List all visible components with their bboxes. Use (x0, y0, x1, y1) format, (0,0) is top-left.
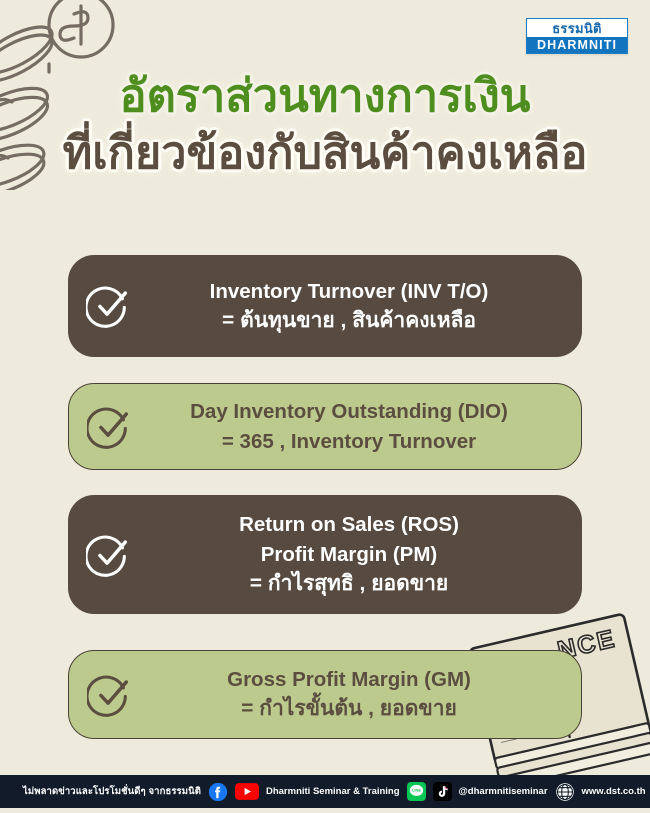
ratio-card-day-inventory-outstanding: Day Inventory Outstanding (DIO) = 365 , … (68, 383, 582, 470)
poster-canvas: NCE ธรรมนิติ DHARMNITI อัตราส่วนทางการเง… (0, 0, 650, 813)
ratio-card-inventory-turnover: Inventory Turnover (INV T/O) = ต้นทุนขาย… (68, 255, 582, 357)
ratio-card-gross-profit-margin: Gross Profit Margin (GM) = กำไรขั้นต้น ,… (68, 650, 582, 739)
card-text-block: Gross Profit Margin (GM) = กำไรขั้นต้น ,… (139, 665, 559, 724)
card-line: Day Inventory Outstanding (DIO) (139, 397, 559, 426)
card-line: Return on Sales (ROS) (138, 510, 560, 539)
facebook-icon[interactable] (208, 782, 228, 802)
footer-tagline: ไม่พลาดข่าวและโปรโมชั่นดีๆ จากธรรมนิติ (23, 784, 201, 799)
check-circle-icon (86, 532, 132, 578)
svg-text:LINE: LINE (412, 788, 421, 793)
footer-website: www.dst.co.th (582, 786, 646, 797)
card-line: Gross Profit Margin (GM) (139, 665, 559, 694)
card-text-block: Day Inventory Outstanding (DIO) = 365 , … (139, 397, 559, 455)
title-line-1: อัตราส่วนทางการเงิน (0, 72, 650, 121)
footer-bar: ไม่พลาดข่าวและโปรโมชั่นดีๆ จากธรรมนิติ D… (0, 775, 650, 808)
card-line: = ต้นทุนขาย , สินค้าคงเหลือ (138, 306, 560, 336)
card-text-block: Return on Sales (ROS) Profit Margin (PM)… (138, 510, 560, 598)
line-icon[interactable]: LINE (407, 782, 426, 801)
page-title: อัตราส่วนทางการเงิน ที่เกี่ยวข้องกับสินค… (0, 72, 650, 177)
card-line: Inventory Turnover (INV T/O) (138, 277, 560, 306)
footer-social-name: Dharmniti Seminar & Training (266, 786, 400, 797)
ratio-card-return-on-sales: Return on Sales (ROS) Profit Margin (PM)… (68, 495, 582, 614)
card-text-block: Inventory Turnover (INV T/O) = ต้นทุนขาย… (138, 277, 560, 336)
youtube-icon[interactable] (235, 783, 259, 800)
footer-handle: @dharmnitiseminar (459, 786, 548, 797)
card-line: = 365 , Inventory Turnover (139, 427, 559, 456)
footer-bottom-strip (0, 808, 650, 813)
dharmniti-logo: ธรรมนิติ DHARMNITI (526, 18, 628, 54)
tiktok-icon[interactable] (433, 782, 452, 801)
check-circle-icon (87, 404, 133, 450)
check-circle-icon (86, 283, 132, 329)
logo-thai-text: ธรรมนิติ (527, 19, 627, 37)
logo-en-text: DHARMNITI (527, 37, 627, 53)
card-line: Profit Margin (PM) (138, 540, 560, 569)
card-line: = กำไรสุทธิ , ยอดขาย (138, 569, 560, 599)
globe-icon[interactable] (555, 782, 575, 802)
title-line-2: ที่เกี่ยวข้องกับสินค้าคงเหลือ (0, 129, 650, 178)
card-line: = กำไรขั้นต้น , ยอดขาย (139, 694, 559, 724)
check-circle-icon (87, 672, 133, 718)
